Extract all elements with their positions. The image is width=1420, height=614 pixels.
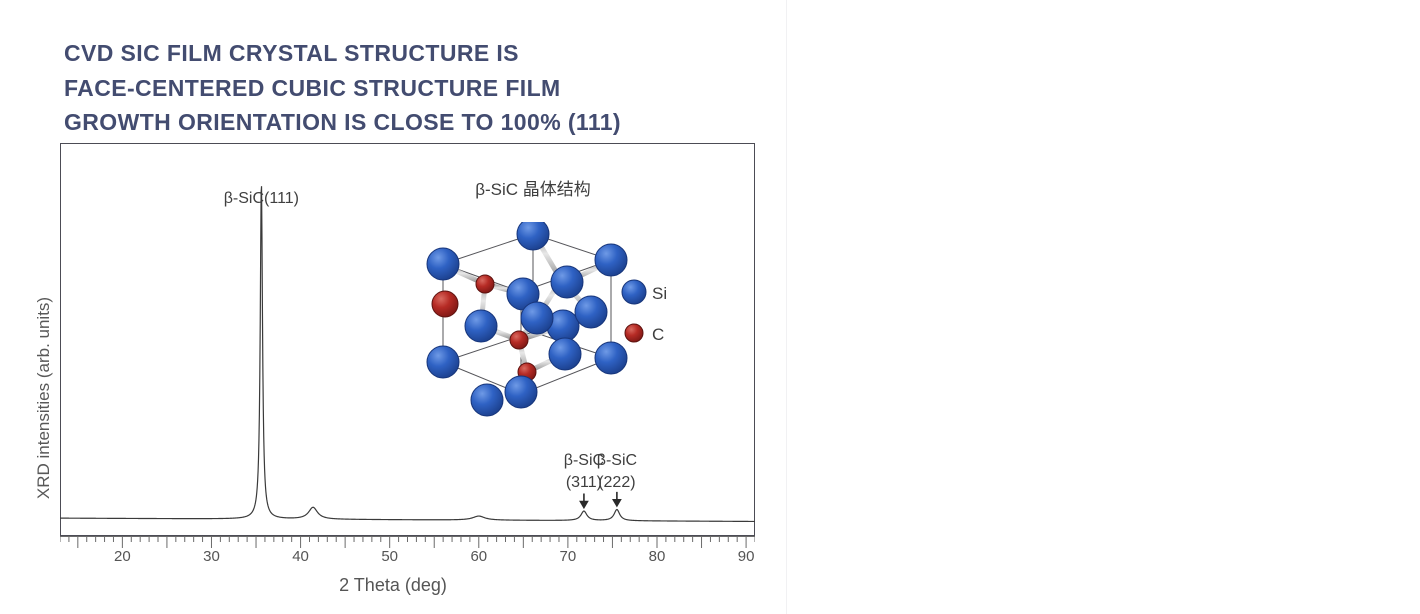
- x-tick-60: 60: [470, 548, 487, 565]
- beta-sic-crystal-diagram: [415, 222, 630, 417]
- peak-label-111: β-SiC(111): [224, 188, 299, 210]
- legend-label-carbon: C: [652, 325, 664, 345]
- left-panel-title: CVD SIC FILM CRYSTAL STRUCTURE IS FACE-C…: [64, 36, 764, 140]
- title-line-3: GROWTH ORIENTATION IS CLOSE TO 100% (111…: [64, 105, 764, 140]
- x-tick-70: 70: [560, 548, 577, 565]
- x-tick-40: 40: [292, 548, 309, 565]
- legend-silicon-icon: [622, 280, 646, 304]
- y-axis-label: XRD intensities (arb. units): [34, 258, 54, 538]
- crystal-legend-markers: [620, 278, 650, 368]
- sem-panel: SEM DATA OF CVD SIC FILM, CRYSTAL SIZE O…: [786, 0, 1420, 614]
- title-line-1: CVD SIC FILM CRYSTAL STRUCTURE IS: [64, 36, 764, 71]
- xrd-curve: [60, 143, 755, 536]
- peak-label-222: β-SiC(222): [597, 450, 637, 493]
- slide-root: CVD SIC FILM CRYSTAL STRUCTURE IS FACE-C…: [0, 0, 1420, 614]
- x-tick-50: 50: [381, 548, 398, 565]
- x-tick-90: 90: [738, 548, 755, 565]
- crystal-inset-title: β-SiC 晶体结构: [475, 175, 591, 200]
- legend-carbon-icon: [625, 324, 643, 342]
- silicon-atoms: [427, 222, 627, 416]
- x-axis-label: 2 Theta (deg): [0, 575, 786, 596]
- x-tick-80: 80: [649, 548, 666, 565]
- legend-label-silicon: Si: [652, 284, 667, 304]
- x-tick-20: 20: [114, 548, 131, 565]
- title-line-2: FACE-CENTERED CUBIC STRUCTURE FILM: [64, 71, 764, 106]
- x-tick-30: 30: [203, 548, 220, 565]
- xrd-chart-panel: CVD SIC FILM CRYSTAL STRUCTURE IS FACE-C…: [0, 0, 786, 614]
